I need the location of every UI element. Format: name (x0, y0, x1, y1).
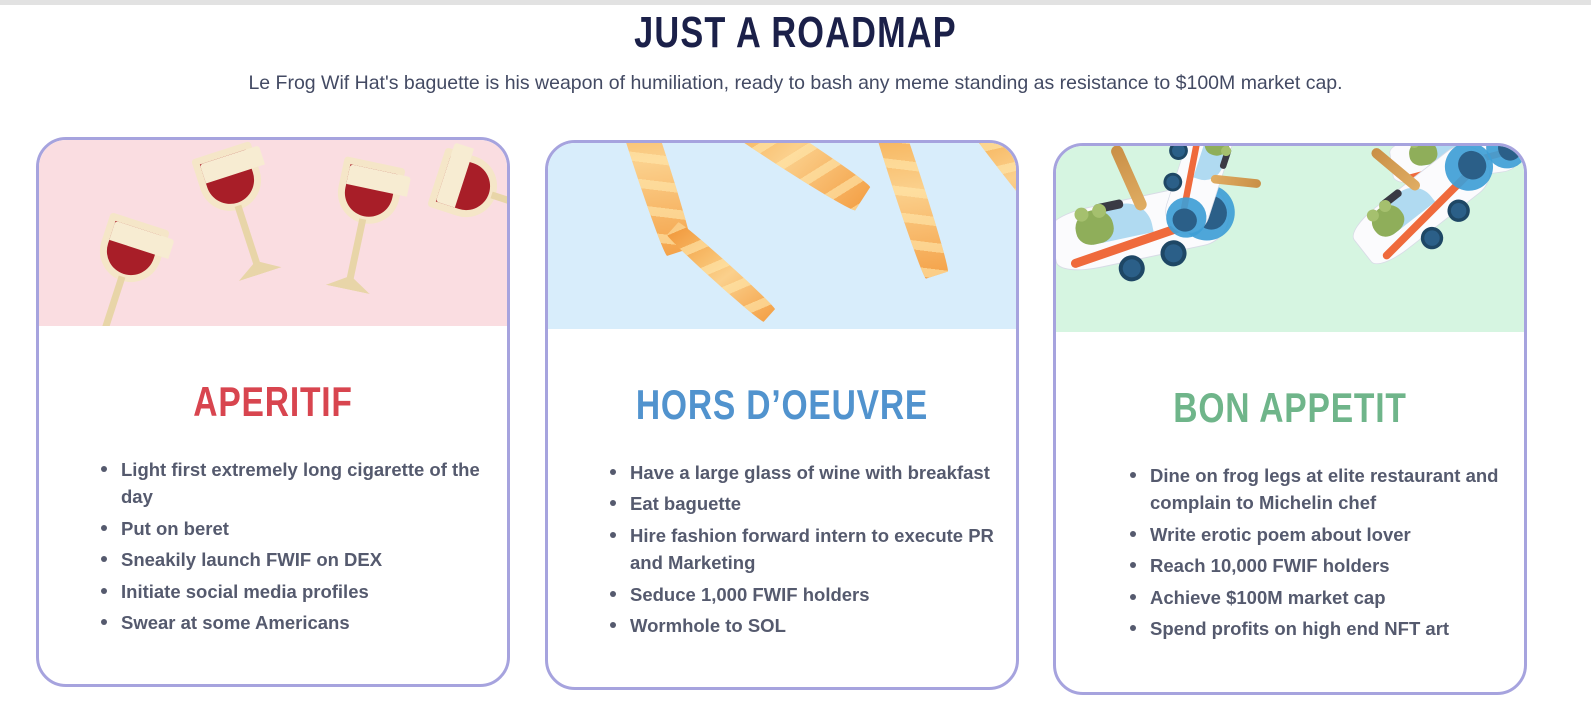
baguette-pattern-icon (548, 143, 1016, 329)
page-title: JUST A ROADMAP (175, 8, 1416, 58)
roadmap-card-bon-appetit: BON APPETIT Dine on frog legs at elite r… (1053, 143, 1527, 695)
roadmap-list-aperitif: Light first extremely long cigarette of … (57, 456, 489, 636)
list-item: Light first extremely long cigarette of … (101, 456, 489, 511)
list-item: Wormhole to SOL (610, 612, 998, 639)
list-item: Have a large glass of wine with breakfas… (610, 459, 998, 486)
roadmap-list-hors-doeuvre: Have a large glass of wine with breakfas… (566, 459, 998, 639)
list-item: Initiate social media profiles (101, 578, 489, 605)
list-item: Write erotic poem about lover (1130, 521, 1506, 548)
list-item: Dine on frog legs at elite restaurant an… (1130, 462, 1506, 517)
baguette-icon (694, 143, 873, 214)
list-item: Eat baguette (610, 490, 998, 517)
card-heading-aperitif: APERITIF (100, 378, 446, 426)
roadmap-list-bon-appetit: Dine on frog legs at elite restaurant an… (1074, 462, 1506, 642)
list-item: Reach 10,000 FWIF holders (1130, 552, 1506, 579)
list-item: Spend profits on high end NFT art (1130, 615, 1506, 642)
card-heading-bon-appetit: BON APPETIT (1117, 384, 1463, 432)
frog-airplane-pattern-icon (1056, 146, 1524, 332)
top-divider-strip (0, 0, 1591, 5)
list-item: Seduce 1,000 FWIF holders (610, 581, 998, 608)
wine-glass-pattern-icon (39, 140, 507, 326)
roadmap-card-hors-doeuvre: HORS D’OEUVRE Have a large glass of wine… (545, 140, 1019, 690)
list-item: Put on beret (101, 515, 489, 542)
list-item: Hire fashion forward intern to execute P… (610, 522, 998, 577)
baguette-icon (952, 143, 1016, 243)
baguette-icon (861, 143, 951, 280)
list-item: Sneakily launch FWIF on DEX (101, 546, 489, 573)
card-heading-hors-doeuvre: HORS D’OEUVRE (609, 381, 955, 429)
page-subtitle: Le Frog Wif Hat's baguette is his weapon… (0, 72, 1591, 95)
baguette-icon (665, 220, 776, 323)
roadmap-card-aperitif: APERITIF Light first extremely long ciga… (36, 137, 510, 687)
list-item: Swear at some Americans (101, 609, 489, 636)
list-item: Achieve $100M market cap (1130, 584, 1506, 611)
